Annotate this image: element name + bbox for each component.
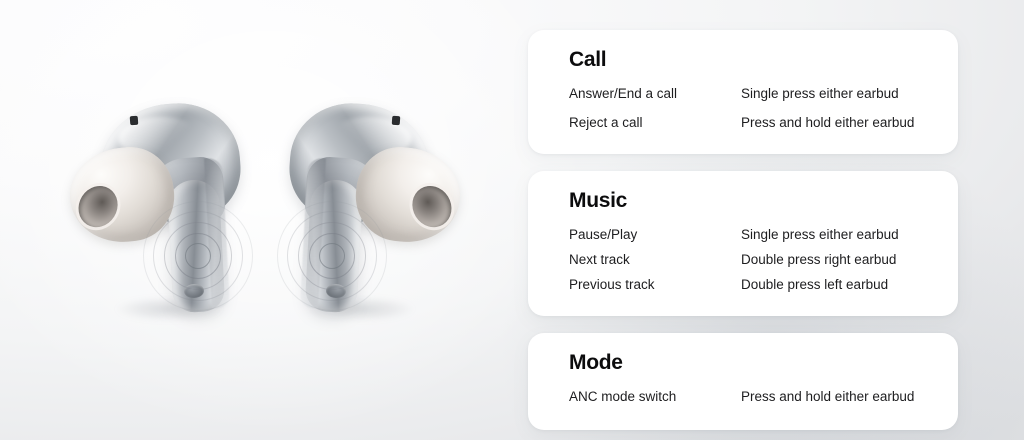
row-action: Next track	[569, 252, 741, 269]
row-action: Pause/Play	[569, 227, 741, 244]
table-row: Answer/End a call Single press either ea…	[569, 86, 918, 103]
card-rows-mode: ANC mode switch Press and hold either ea…	[569, 389, 918, 406]
row-gesture: Press and hold either earbud	[741, 389, 914, 406]
table-row: Pause/Play Single press either earbud	[569, 227, 918, 244]
page-root: Call Answer/End a call Single press eith…	[0, 0, 1024, 440]
table-row: Reject a call Press and hold either earb…	[569, 115, 918, 132]
row-gesture: Double press right earbud	[741, 252, 896, 269]
table-row: Next track Double press right earbud	[569, 252, 918, 269]
row-gesture: Double press left earbud	[741, 277, 888, 294]
row-gesture: Single press either earbud	[741, 86, 899, 103]
left-earbud	[58, 96, 268, 336]
row-gesture: Press and hold either earbud	[741, 115, 914, 132]
table-row: ANC mode switch Press and hold either ea…	[569, 389, 918, 406]
row-action: Previous track	[569, 277, 741, 294]
earbud-sound-outlet	[75, 181, 120, 232]
card-music: Music Pause/Play Single press either ear…	[528, 171, 958, 316]
microphone-port-icon	[130, 116, 139, 126]
card-title-call: Call	[569, 48, 918, 71]
card-title-music: Music	[569, 189, 918, 212]
microphone-port-icon	[392, 116, 401, 126]
card-rows-music: Pause/Play Single press either earbud Ne…	[569, 227, 918, 294]
card-rows-call: Answer/End a call Single press either ea…	[569, 86, 918, 132]
row-action: Reject a call	[569, 115, 741, 132]
product-image	[0, 0, 512, 440]
row-gesture: Single press either earbud	[741, 227, 899, 244]
card-call: Call Answer/End a call Single press eith…	[528, 30, 958, 154]
table-row: Previous track Double press left earbud	[569, 277, 918, 294]
row-action: Answer/End a call	[569, 86, 741, 103]
earbud-sound-outlet	[409, 181, 454, 232]
card-title-mode: Mode	[569, 351, 918, 374]
row-action: ANC mode switch	[569, 389, 741, 406]
right-earbud	[262, 96, 472, 336]
gesture-cards: Call Answer/End a call Single press eith…	[528, 30, 958, 430]
card-mode: Mode ANC mode switch Press and hold eith…	[528, 333, 958, 430]
